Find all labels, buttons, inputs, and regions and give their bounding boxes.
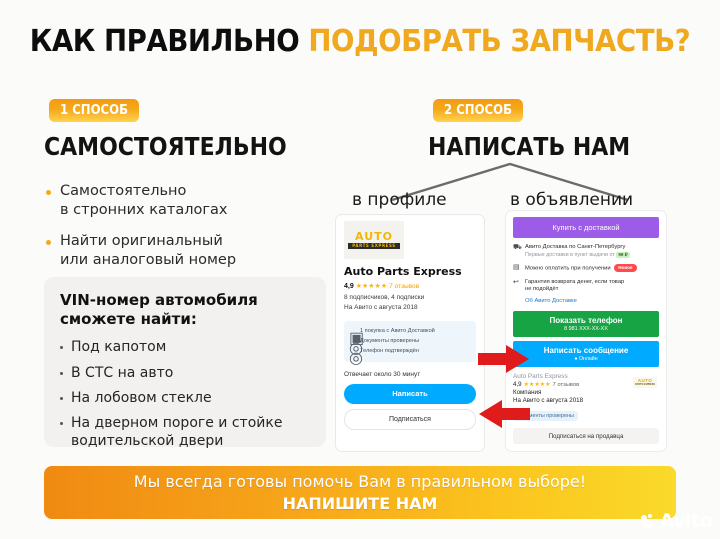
show-phone-label: Показать телефон — [550, 316, 623, 325]
seller-reviews-count[interactable]: 7 отзывов — [553, 382, 580, 388]
subscribe-button[interactable]: Подписаться — [344, 409, 476, 430]
delivery-box-icon: ▣ — [349, 328, 356, 335]
list-item: ▣ 1 покупка с Авито Доставкой — [349, 328, 471, 335]
write-message-button[interactable]: Написать — [344, 384, 476, 404]
list-item: Под капотом — [60, 338, 310, 356]
seller-logo: AUTO PARTS EXPRESS — [633, 377, 657, 388]
vin-item-text: Под капотом — [71, 338, 166, 356]
bullet-dot-icon — [60, 372, 63, 375]
list-item: На лобовом стекле — [60, 389, 310, 407]
bullet-dot-icon — [60, 397, 63, 400]
red-arrow-left-icon — [478, 399, 530, 429]
show-phone-button[interactable]: Показать телефон 8 981 XXX-XX-XX — [513, 311, 659, 337]
subscribe-to-seller-button[interactable]: Подписаться на продавца — [513, 428, 659, 444]
list-item: ▤ Можно оплатить при получении Новое — [513, 264, 659, 273]
vin-item-text: На лобовом стекле — [71, 389, 212, 407]
page-title-gold: ПОДОБРАТЬ ЗАПЧАСТЬ? — [308, 24, 690, 59]
vin-item-text: В СТС на авто — [71, 364, 173, 382]
badge-text: 1 покупка с Авито Доставкой — [360, 328, 435, 334]
list-item: ◎ Документы проверены — [349, 338, 471, 345]
avito-dots-icon — [641, 514, 656, 529]
vin-item-text: На дверном пороге и стойке водительской … — [71, 414, 282, 450]
profile-rating-row: 4,9 ★★★★★ 7 отзывов — [344, 282, 476, 290]
list-item: Найти оригинальный или аналоговый номер — [46, 232, 326, 271]
bullet-dot-icon — [60, 422, 63, 425]
online-status: ● Онлайн — [574, 356, 597, 362]
badge-text: Документы проверены — [360, 338, 419, 344]
logo-main-text: AUTO — [355, 231, 393, 242]
list-item: ↩ Гарантия возврата денег, если товар не… — [513, 279, 659, 293]
profile-name: Auto Parts Express — [344, 265, 476, 278]
cta-line-2: НАПИШИТЕ НАМ — [283, 494, 438, 513]
method-two-badge: 2 СПОСОБ — [433, 99, 523, 122]
list-item: На дверном пороге и стойке водительской … — [60, 414, 310, 450]
avito-logo: Avito — [641, 512, 712, 531]
method-one-badge: 1 СПОСОБ — [49, 99, 139, 122]
seller-since: На Авито с августа 2018 — [513, 397, 659, 404]
method-one-bullets: Самостоятельно в стронних каталогах Найт… — [46, 182, 326, 281]
profile-since: На Авито с августа 2018 — [344, 303, 476, 313]
page-title-dark: КАК ПРАВИЛЬНО — [30, 24, 299, 59]
wallet-icon: ▤ — [513, 264, 521, 273]
check-circle-icon: ◎ — [349, 338, 356, 345]
payment-text: Можно оплатить при получении — [525, 266, 611, 272]
bullet-text: Самостоятельно в стронних каталогах — [60, 182, 227, 221]
vin-info-card: VIN-номер автомобиля сможете найти: Под … — [44, 277, 326, 447]
vin-card-title: VIN-номер автомобиля сможете найти: — [60, 291, 310, 329]
about-delivery-link[interactable]: Об Авито Доставке — [525, 298, 659, 304]
list-item: ⛟ Авито Доставка по Санкт-Петербургу Пер… — [513, 244, 659, 258]
subheading-advert: в объявлении — [510, 190, 633, 210]
star-rating-icon: ★★★★★ — [524, 381, 551, 388]
check-circle-icon: ◎ — [349, 348, 356, 355]
price-pill: 99 ₽ — [616, 252, 629, 258]
logo-sub-text: PARTS EXPRESS — [348, 243, 400, 249]
subheading-profile: в профиле — [352, 190, 447, 210]
bullet-dot-icon — [60, 346, 63, 349]
profile-card: AUTO PARTS EXPRESS Auto Parts Express 4,… — [336, 215, 484, 451]
list-item: Самостоятельно в стронних каталогах — [46, 182, 326, 221]
company-logo: AUTO PARTS EXPRESS — [344, 221, 404, 259]
badge-text: Телефон подтверждён — [360, 348, 419, 354]
reviews-count[interactable]: 7 отзывов — [389, 283, 419, 290]
page-title: КАК ПРАВИЛЬНО ПОДОБРАТЬ ЗАПЧАСТЬ? — [29, 24, 691, 59]
method-one-heading: САМОСТОЯТЕЛЬНО — [44, 132, 287, 161]
buy-with-delivery-button[interactable]: Купить с доставкой — [513, 217, 659, 238]
avito-wordmark: Avito — [659, 512, 712, 531]
guarantee-text: Гарантия возврата денег, если товар не п… — [525, 279, 659, 293]
phone-number: 8 981 XXX-XX-XX — [564, 326, 608, 332]
red-arrow-right-icon — [478, 344, 530, 374]
new-badge: Новое — [614, 264, 636, 272]
profile-followers: 8 подписчиков, 4 подписки — [344, 293, 476, 303]
seller-rating-value: 4,9 — [513, 381, 522, 388]
advert-card: Купить с доставкой ⛟ Авито Доставка по С… — [506, 211, 666, 451]
seller-type: Компания — [513, 389, 659, 396]
delivery-subtext: Первые доставки в пункт выдачи от — [525, 252, 615, 258]
rating-value: 4,9 — [344, 283, 354, 290]
list-item: ◎ Телефон подтверждён — [349, 348, 471, 355]
star-rating-icon: ★★★★★ — [356, 282, 387, 290]
seller-logo-sub: PARTS EXPRESS — [635, 384, 655, 386]
method-two-heading: НАПИСАТЬ НАМ — [428, 132, 630, 161]
bullet-dot-icon — [46, 240, 51, 245]
bullet-dot-icon — [46, 190, 51, 195]
reply-time-text: Отвечает около 30 минут — [344, 371, 476, 378]
truck-icon: ⛟ — [513, 244, 521, 258]
cta-banner: Мы всегда готовы помочь Вам в правильном… — [44, 466, 676, 519]
send-message-button[interactable]: Написать сообщение ● Онлайн — [513, 341, 659, 367]
seller-info: AUTO PARTS EXPRESS Auto Parts Express 4,… — [513, 373, 659, 422]
profile-badge-list: ▣ 1 покупка с Авито Доставкой ◎ Документ… — [344, 321, 476, 362]
return-arrow-icon: ↩ — [513, 279, 521, 293]
list-item: В СТС на авто — [60, 364, 310, 382]
poster-canvas: КАК ПРАВИЛЬНО ПОДОБРАТЬ ЗАПЧАСТЬ? 1 СПОС… — [0, 0, 720, 539]
delivery-text: Авито Доставка по Санкт-Петербургу — [525, 244, 659, 251]
cta-line-1: Мы всегда готовы помочь Вам в правильном… — [134, 472, 586, 491]
send-message-label: Написать сообщение — [544, 346, 629, 355]
bullet-text: Найти оригинальный или аналоговый номер — [60, 232, 236, 271]
